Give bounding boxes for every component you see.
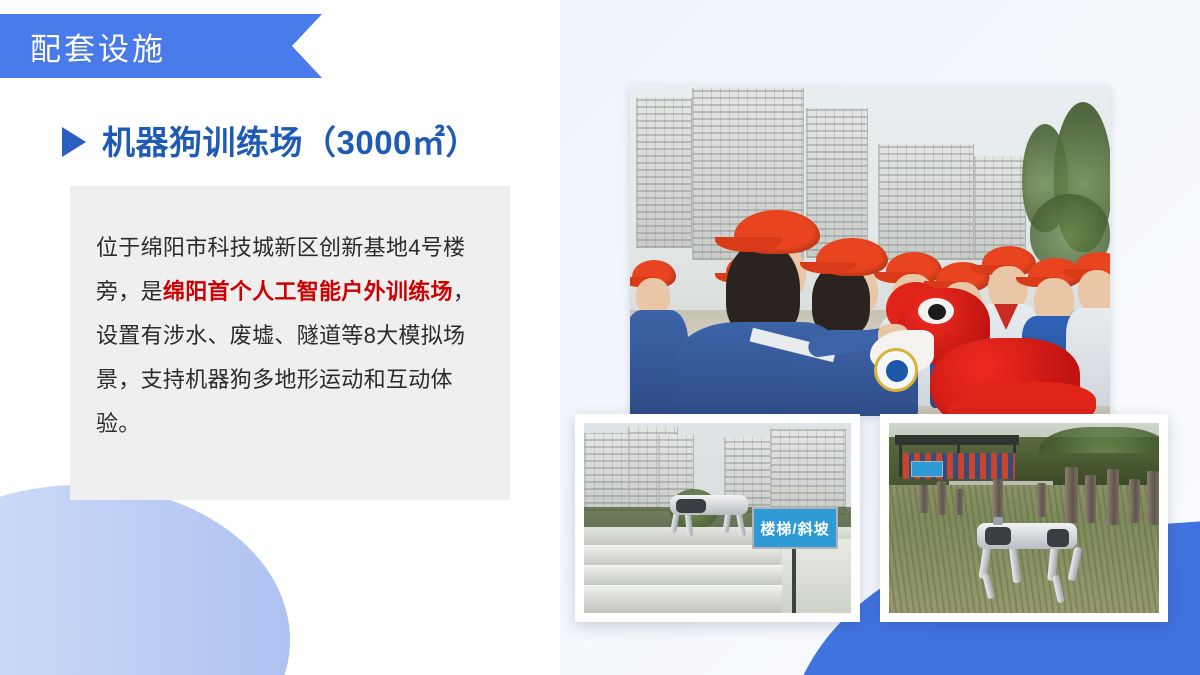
- stair-step: [584, 565, 784, 587]
- robot-dog-panel: [676, 499, 706, 513]
- wooden-post: [1065, 467, 1078, 523]
- robot-dog-sensor: [993, 517, 1003, 525]
- red-cap: [816, 238, 888, 276]
- student-head: [1078, 270, 1110, 312]
- wooden-post: [937, 481, 946, 515]
- page-title: 机器狗训练场（3000㎡）: [102, 116, 479, 164]
- building: [878, 144, 974, 260]
- red-cap: [734, 210, 820, 254]
- building: [636, 98, 692, 248]
- bottom-left-photo: 楼梯/斜坡: [584, 423, 851, 613]
- section-heading: 机器狗训练场（3000㎡）: [62, 116, 479, 164]
- wooden-post: [919, 485, 928, 513]
- building: [770, 429, 846, 515]
- stairs-slope-sign: 楼梯/斜坡: [752, 507, 838, 549]
- sign-post: [792, 547, 796, 613]
- robot-dog-panel: [1047, 529, 1069, 547]
- description-paragraph: 位于绵阳市科技城新区创新基地4号楼旁，是绵阳首个人工智能户外训练场，设置有涉水、…: [96, 226, 488, 446]
- lion-pupil: [928, 304, 946, 320]
- robot-dog-panel: [985, 527, 1011, 545]
- stair-step: [584, 585, 789, 613]
- triangle-right-icon: [62, 127, 86, 157]
- wooden-post: [1085, 475, 1096, 523]
- small-blue-sign: [911, 461, 943, 477]
- wooden-post: [1037, 483, 1046, 517]
- description-textbox: 位于绵阳市科技城新区创新基地4号楼旁，是绵阳首个人工智能户外训练场，设置有涉水、…: [70, 186, 510, 500]
- bottom-right-photo: [889, 423, 1159, 613]
- wooden-post: [993, 479, 1003, 519]
- wooden-post: [1107, 469, 1119, 525]
- photo-frame-stairs: 楼梯/斜坡: [575, 414, 860, 622]
- main-photo: [630, 86, 1110, 416]
- wooden-post: [1147, 471, 1159, 525]
- stair-step: [584, 545, 780, 567]
- photo-frame-grassfield: [880, 414, 1168, 622]
- wooden-post: [955, 489, 963, 515]
- canopy-post: [899, 435, 902, 477]
- building: [974, 156, 1026, 260]
- lion-emblem: [886, 360, 908, 382]
- wooden-post: [1129, 479, 1140, 523]
- description-highlight: 绵阳首个人工智能户外训练场: [163, 279, 453, 304]
- left-content-column: 机器狗训练场（3000㎡） 位于绵阳市科技城新区创新基地4号楼旁，是绵阳首个人工…: [0, 0, 560, 675]
